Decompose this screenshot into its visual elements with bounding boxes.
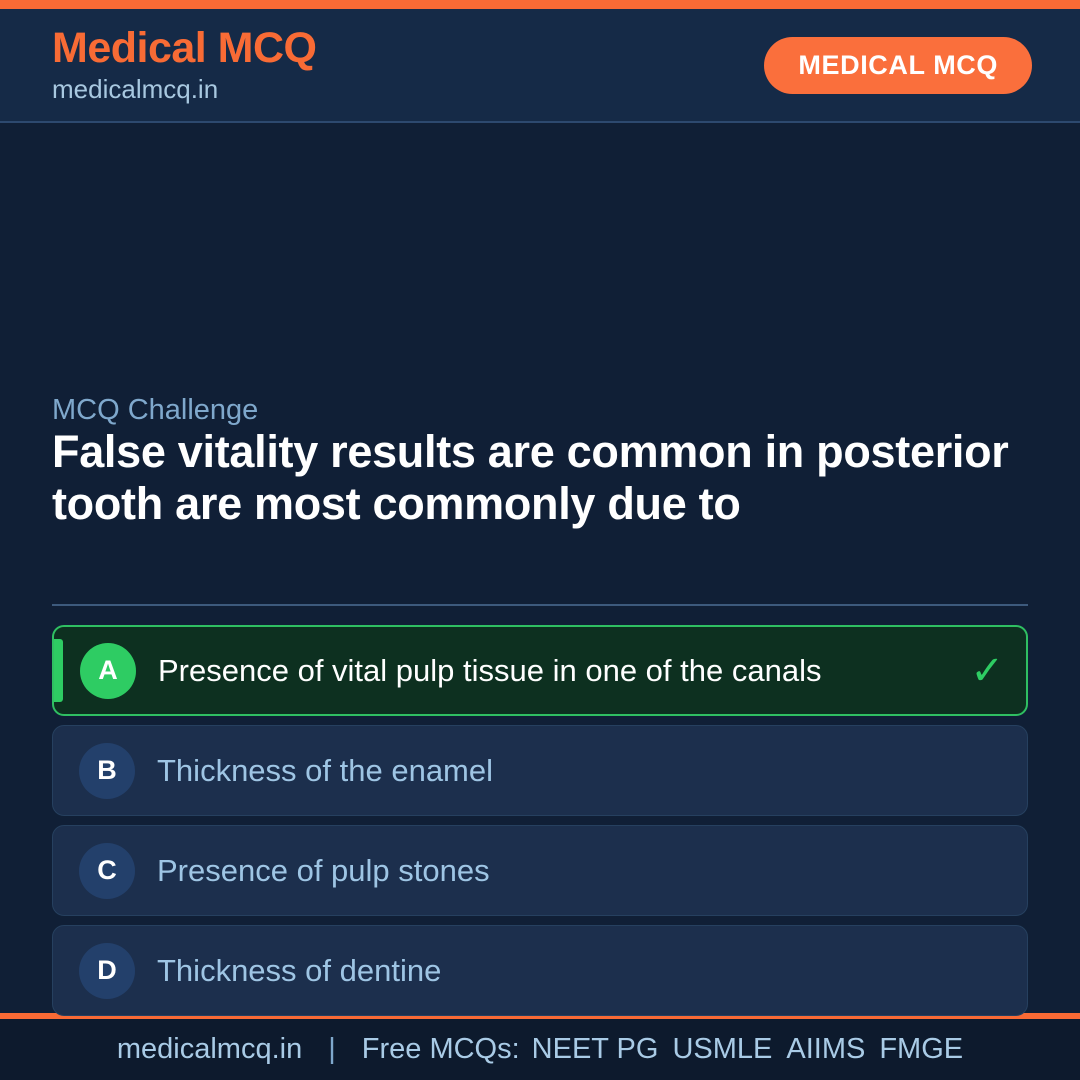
header-badge[interactable]: MEDICAL MCQ — [764, 37, 1032, 94]
mcq-card: Medical MCQ medicalmcq.in MEDICAL MCQ MC… — [0, 0, 1080, 1080]
option-d-text: Thickness of dentine — [157, 952, 971, 989]
correct-accent-bar — [54, 639, 63, 702]
brand-title: Medical MCQ — [52, 25, 317, 71]
option-b-text: Thickness of the enamel — [157, 752, 971, 789]
option-c[interactable]: C Presence of pulp stones — [52, 825, 1028, 916]
footer-exam-usmle[interactable]: USMLE — [672, 1033, 772, 1066]
footer-separator: | — [328, 1033, 336, 1066]
footer-exam-fmge[interactable]: FMGE — [879, 1033, 963, 1066]
option-a-text: Presence of vital pulp tissue in one of … — [158, 652, 970, 689]
footer-text: medicalmcq.in | Free MCQs: NEET PG USMLE… — [117, 1033, 963, 1066]
footer: medicalmcq.in | Free MCQs: NEET PG USMLE… — [0, 1013, 1080, 1080]
footer-site-url[interactable]: medicalmcq.in — [117, 1033, 302, 1066]
option-b-letter: B — [79, 743, 135, 799]
header: Medical MCQ medicalmcq.in MEDICAL MCQ — [0, 9, 1080, 123]
brand-block: Medical MCQ medicalmcq.in — [52, 25, 317, 106]
check-icon: ✓ — [970, 651, 1004, 691]
options-list: A Presence of vital pulp tissue in one o… — [52, 625, 1028, 1016]
footer-exam-neetpg[interactable]: NEET PG — [532, 1033, 659, 1066]
option-b[interactable]: B Thickness of the enamel — [52, 725, 1028, 816]
question-divider — [52, 604, 1028, 606]
footer-label: Free MCQs: — [362, 1033, 520, 1066]
main-content: MCQ Challenge False vitality results are… — [0, 123, 1080, 1013]
top-accent-bar — [0, 0, 1080, 9]
option-c-letter: C — [79, 843, 135, 899]
option-d[interactable]: D Thickness of dentine — [52, 925, 1028, 1016]
brand-site-url: medicalmcq.in — [52, 73, 317, 106]
option-a-letter: A — [80, 643, 136, 699]
option-c-text: Presence of pulp stones — [157, 852, 971, 889]
eyebrow-label: MCQ Challenge — [52, 393, 258, 428]
footer-exam-aiims[interactable]: AIIMS — [786, 1033, 865, 1066]
option-a[interactable]: A Presence of vital pulp tissue in one o… — [52, 625, 1028, 716]
question-text: False vitality results are common in pos… — [52, 426, 1028, 530]
option-d-letter: D — [79, 943, 135, 999]
